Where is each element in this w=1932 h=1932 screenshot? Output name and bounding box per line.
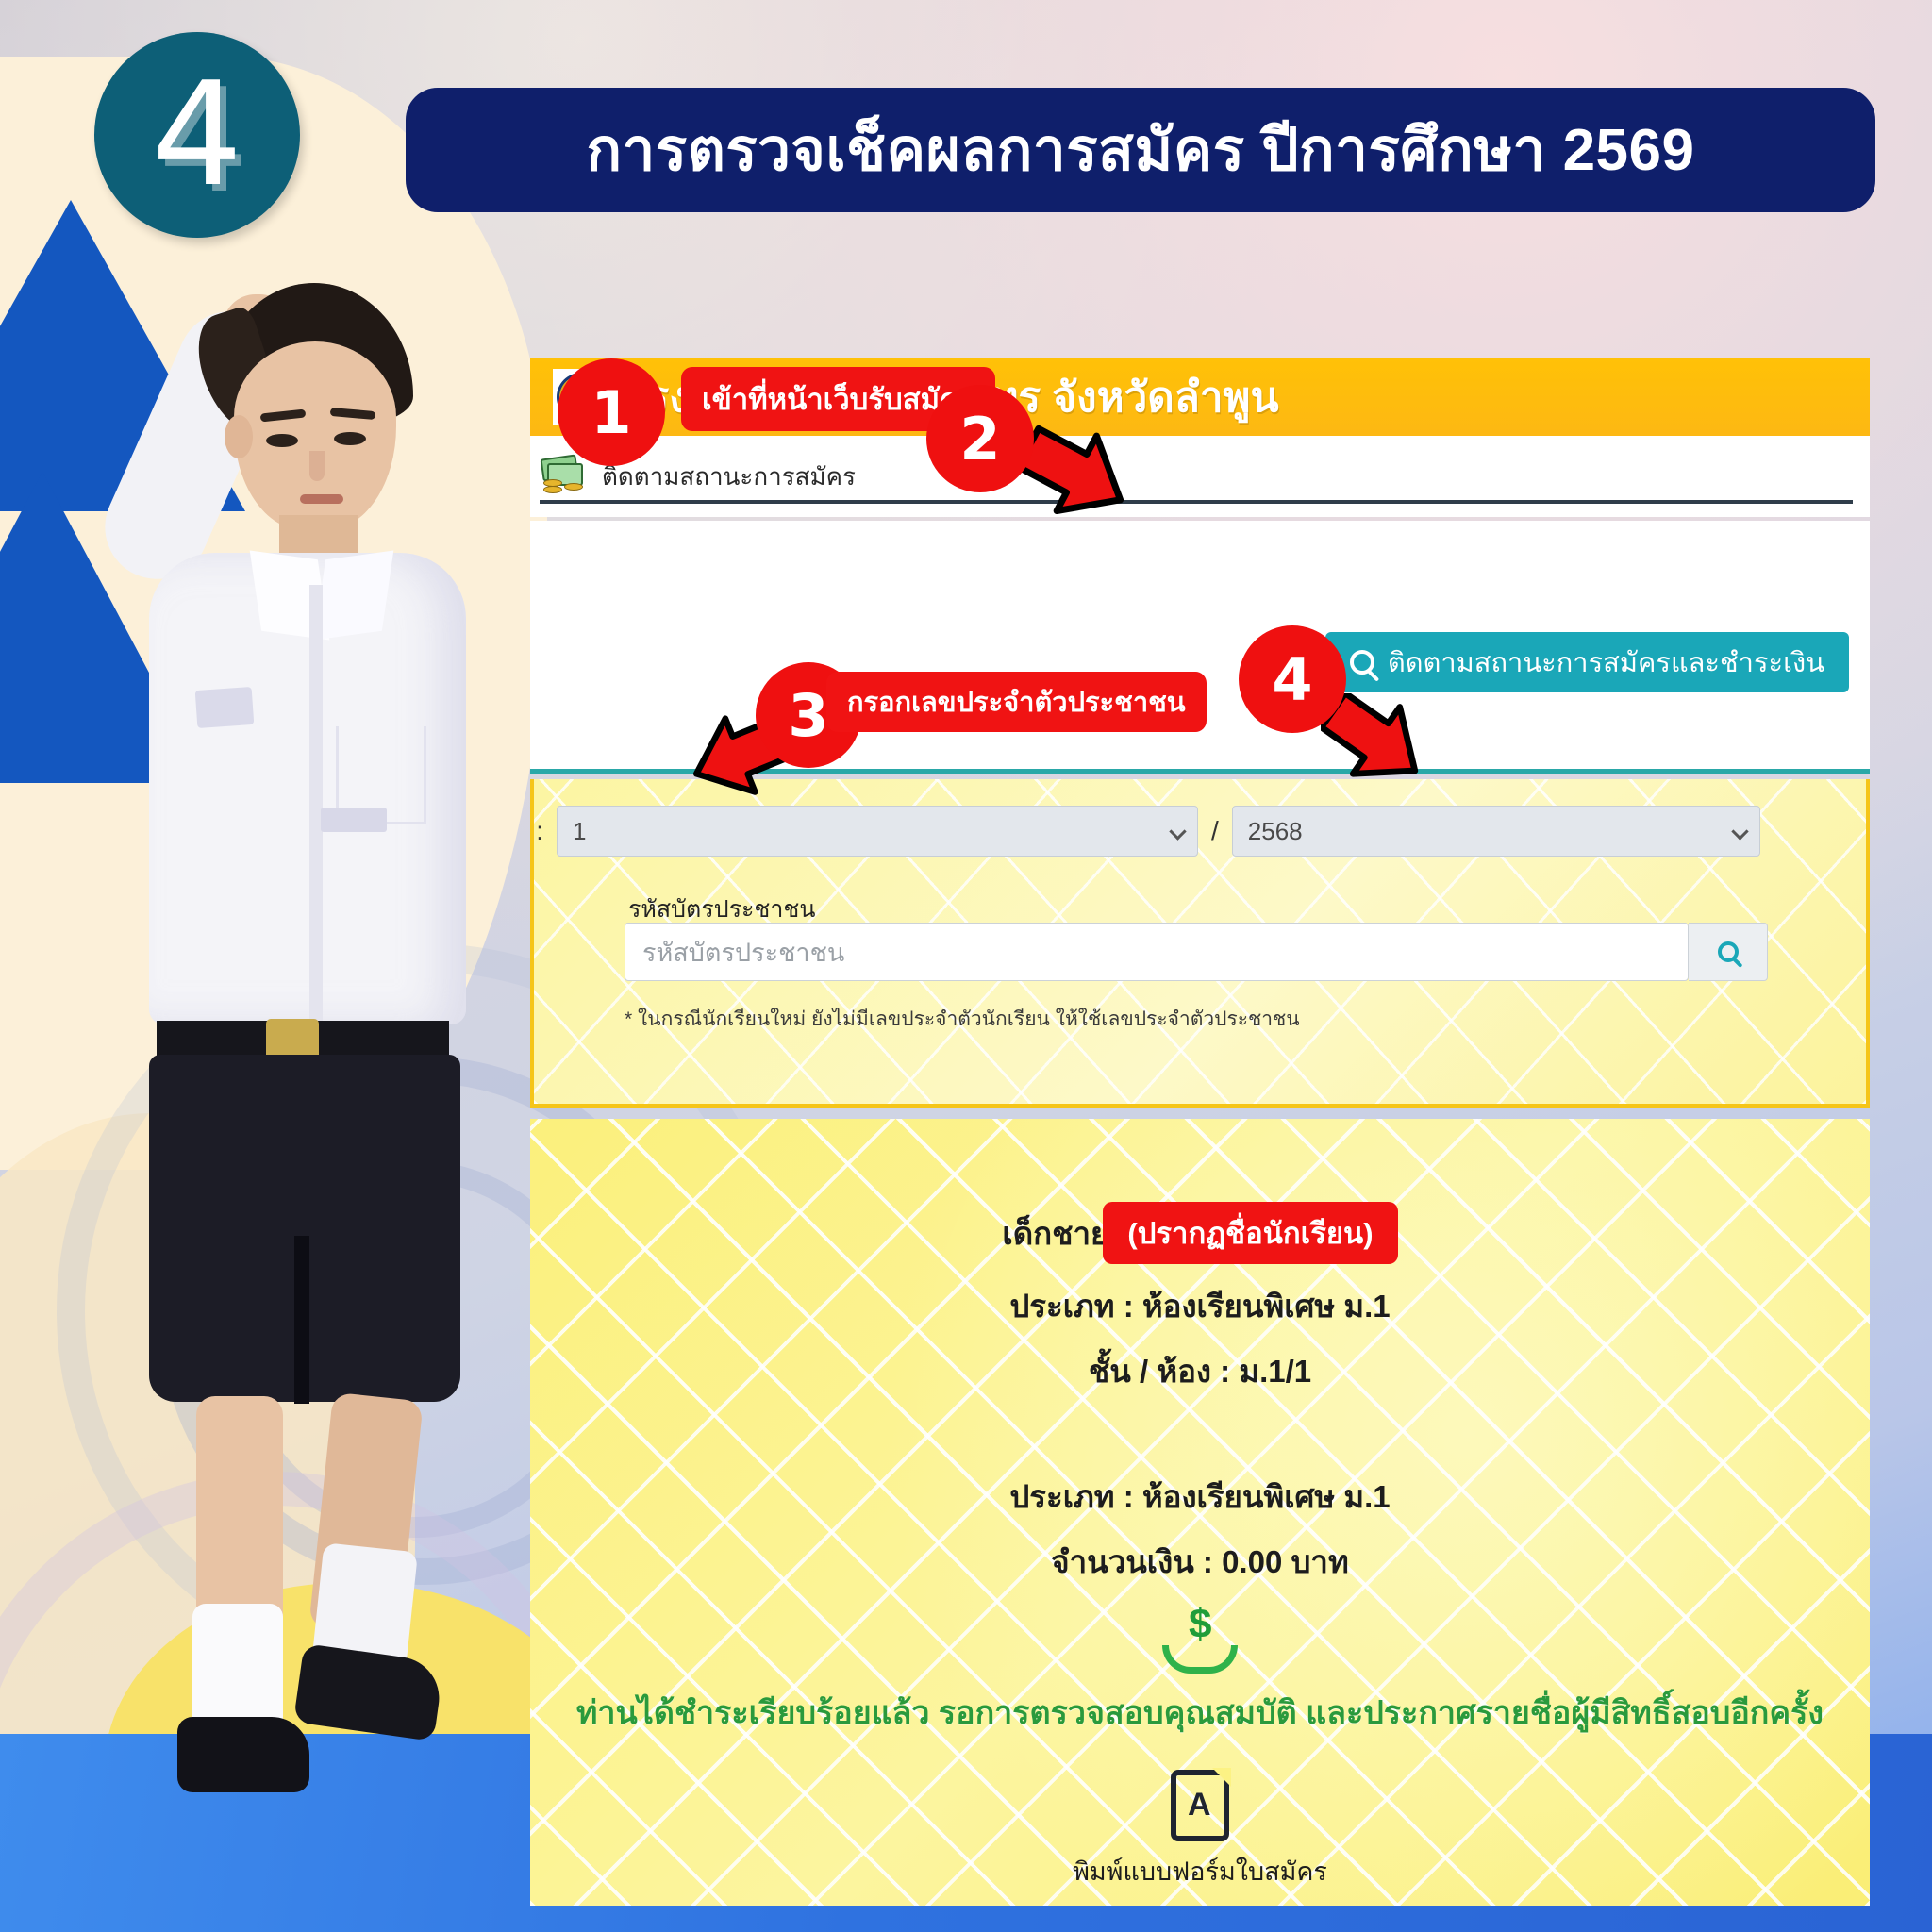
annotation-step-2-number: 2 — [959, 405, 1000, 474]
site-nav: ติดตามสถานะการสมัคร — [530, 436, 1870, 517]
nav-divider — [540, 500, 1853, 504]
search-icon — [1350, 650, 1374, 675]
poster-title-bar: การตรวจเช็คผลการสมัคร ปีการศึกษา 2569 — [406, 88, 1875, 212]
student-eye-right — [334, 432, 366, 445]
annotation-step-2: 2 — [926, 385, 1034, 492]
poster-step-number: 4 — [152, 63, 243, 207]
student-shoe-right — [293, 1643, 444, 1741]
payment-amount-line: จำนวนเงิน : 0.00 บาท — [530, 1537, 1870, 1587]
money-icon — [540, 455, 589, 498]
poster-step-badge: 4 — [94, 32, 300, 238]
student-shoe-left — [177, 1717, 309, 1792]
student-mouth — [300, 494, 343, 504]
page-title: การตรวจเช็คผลการสมัคร ปีการศึกษา 2569 — [586, 104, 1694, 196]
level-select-value: 1 — [573, 817, 586, 846]
result-panel: เด็กชาย (ปรากฏชื่อนักเรียน) ประเภท : ห้อ… — [530, 1119, 1870, 1906]
student-name-annotation-tag: (ปรากฏชื่อนักเรียน) — [1103, 1202, 1397, 1264]
form-hint-text: * ในกรณีนักเรียนใหม่ ยังไม่มีเลขประจำตัว… — [625, 1004, 1300, 1035]
payment-type-line: ประเภท : ห้องเรียนพิเศษ ม.1 — [530, 1472, 1870, 1522]
annotation-step-1-number: 1 — [591, 378, 631, 447]
pdf-file-icon[interactable]: A — [1171, 1770, 1229, 1841]
chevron-down-icon — [1169, 823, 1186, 840]
chevron-down-icon — [1731, 823, 1748, 840]
student-gender-prefix: เด็กชาย — [1002, 1208, 1108, 1258]
annotation-tag-3: กรอกเลขประจำตัวประชาชน — [826, 672, 1207, 732]
level-label: : — [530, 816, 543, 846]
student-shorts-split — [294, 1236, 309, 1404]
lookup-form-panel: : 1 / 2568 รหัสบัตรประชาชน รหัสบัตรประชา… — [530, 779, 1870, 1108]
id-card-placeholder: รหัสบัตรประชาชน — [642, 932, 844, 973]
id-card-input[interactable]: รหัสบัตรประชาชน — [625, 923, 1689, 981]
student-photo — [38, 283, 481, 1811]
result-type-line: ประเภท : ห้องเรียนพิเศษ ม.1 — [530, 1281, 1870, 1331]
level-year-row: : 1 / 2568 — [530, 806, 1870, 857]
student-name-row: เด็กชาย (ปรากฏชื่อนักเรียน) — [530, 1202, 1870, 1264]
search-icon — [1718, 941, 1739, 962]
slash-separator: / — [1211, 816, 1219, 846]
level-select[interactable]: 1 — [557, 806, 1198, 857]
year-select-value: 2568 — [1248, 817, 1303, 846]
money-in-hand-icon: $ — [1157, 1604, 1243, 1677]
student-shirt-emblem-right — [321, 808, 387, 832]
id-search-button[interactable] — [1689, 923, 1768, 981]
result-room-line: ชั้น / ห้อง : ม.1/1 — [530, 1346, 1870, 1396]
annotation-step-4-number: 4 — [1272, 645, 1312, 714]
student-nose — [309, 451, 325, 481]
payment-status-message: ท่านได้ชำระเรียบร้อยแล้ว รอการตรวจสอบคุณ… — [530, 1687, 1870, 1738]
year-select[interactable]: 2568 — [1232, 806, 1760, 857]
annotation-arrow-2 — [1019, 425, 1132, 519]
annotation-step-1: 1 — [558, 358, 665, 466]
track-status-payment-label: ติดตามสถานะการสมัครและชำระเงิน — [1388, 641, 1824, 684]
nav-item-track-status[interactable]: ติดตามสถานะการสมัคร — [602, 458, 856, 496]
result-spacer — [530, 1411, 1870, 1472]
student-shirt-placket — [309, 585, 323, 1028]
track-status-payment-button[interactable]: ติดตามสถานะการสมัครและชำระเงิน — [1325, 632, 1849, 692]
website-screenshot: จค โรงเรียนจักรคำคณาทร จังหวัดลำพูน ติดต… — [530, 358, 1870, 1906]
annotation-step-3-number: 3 — [788, 681, 828, 750]
annotation-step-4: 4 — [1239, 625, 1346, 733]
print-application-form-link[interactable]: พิมพ์แบบฟอร์มใบสมัคร — [530, 1851, 1870, 1891]
student-ear — [225, 415, 253, 458]
student-shirt-emblem-left — [195, 687, 255, 728]
student-eye-left — [266, 434, 298, 447]
student-collar-right — [314, 551, 394, 641]
